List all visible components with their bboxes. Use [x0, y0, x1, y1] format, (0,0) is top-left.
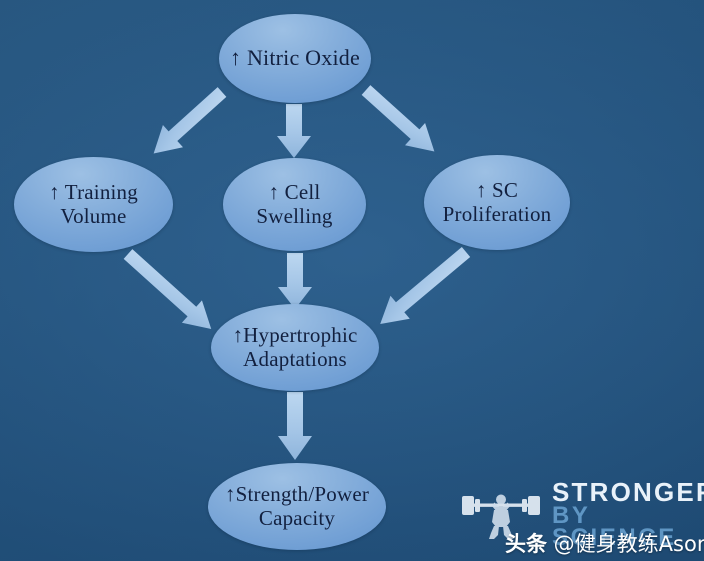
watermark: 头条 @健身教练Ason: [505, 528, 704, 558]
arrow-nitric-oxide-to-sc-proliferation: [356, 79, 444, 163]
diagram-canvas: ↑ Nitric Oxide ↑ Training Volume ↑ Cell …: [0, 0, 704, 561]
node-training-volume-line2: Volume: [43, 205, 144, 229]
node-strength-power-capacity: ↑Strength/Power Capacity: [208, 463, 386, 550]
node-nitric-oxide: ↑ Nitric Oxide: [219, 14, 371, 103]
arrow-nitric-oxide-to-cell-swelling: [277, 104, 311, 158]
node-strength-power-line1: ↑Strength/Power: [219, 483, 375, 507]
node-sc-proliferation-line2: Proliferation: [437, 203, 558, 227]
arrow-sc-proliferation-to-hypertrophic: [371, 241, 476, 336]
arrow-nitric-oxide-to-training-volume: [144, 81, 232, 165]
node-cell-swelling-line1: ↑ Cell: [250, 181, 338, 205]
node-sc-proliferation-line1: ↑ SC: [437, 179, 558, 203]
node-strength-power-line2: Capacity: [219, 507, 375, 531]
node-sc-proliferation: ↑ SC Proliferation: [424, 155, 570, 250]
node-hypertrophic-adaptations: ↑Hypertrophic Adaptations: [211, 304, 379, 391]
node-cell-swelling-line2: Swelling: [250, 205, 338, 229]
arrow-training-volume-to-hypertrophic: [118, 243, 221, 340]
node-training-volume: ↑ Training Volume: [14, 157, 173, 252]
node-hypertrophic-line1: ↑Hypertrophic: [226, 324, 363, 348]
node-hypertrophic-line2: Adaptations: [226, 348, 363, 372]
watermark-handle: @健身教练Ason: [547, 532, 704, 556]
watermark-platform: 头条: [505, 532, 547, 556]
node-cell-swelling: ↑ Cell Swelling: [223, 158, 366, 251]
node-training-volume-line1: ↑ Training: [43, 181, 144, 205]
arrow-cell-swelling-to-hypertrophic: [278, 253, 312, 309]
arrow-hypertrophic-to-strength-power: [278, 392, 312, 460]
node-nitric-oxide-label: ↑ Nitric Oxide: [224, 46, 366, 71]
